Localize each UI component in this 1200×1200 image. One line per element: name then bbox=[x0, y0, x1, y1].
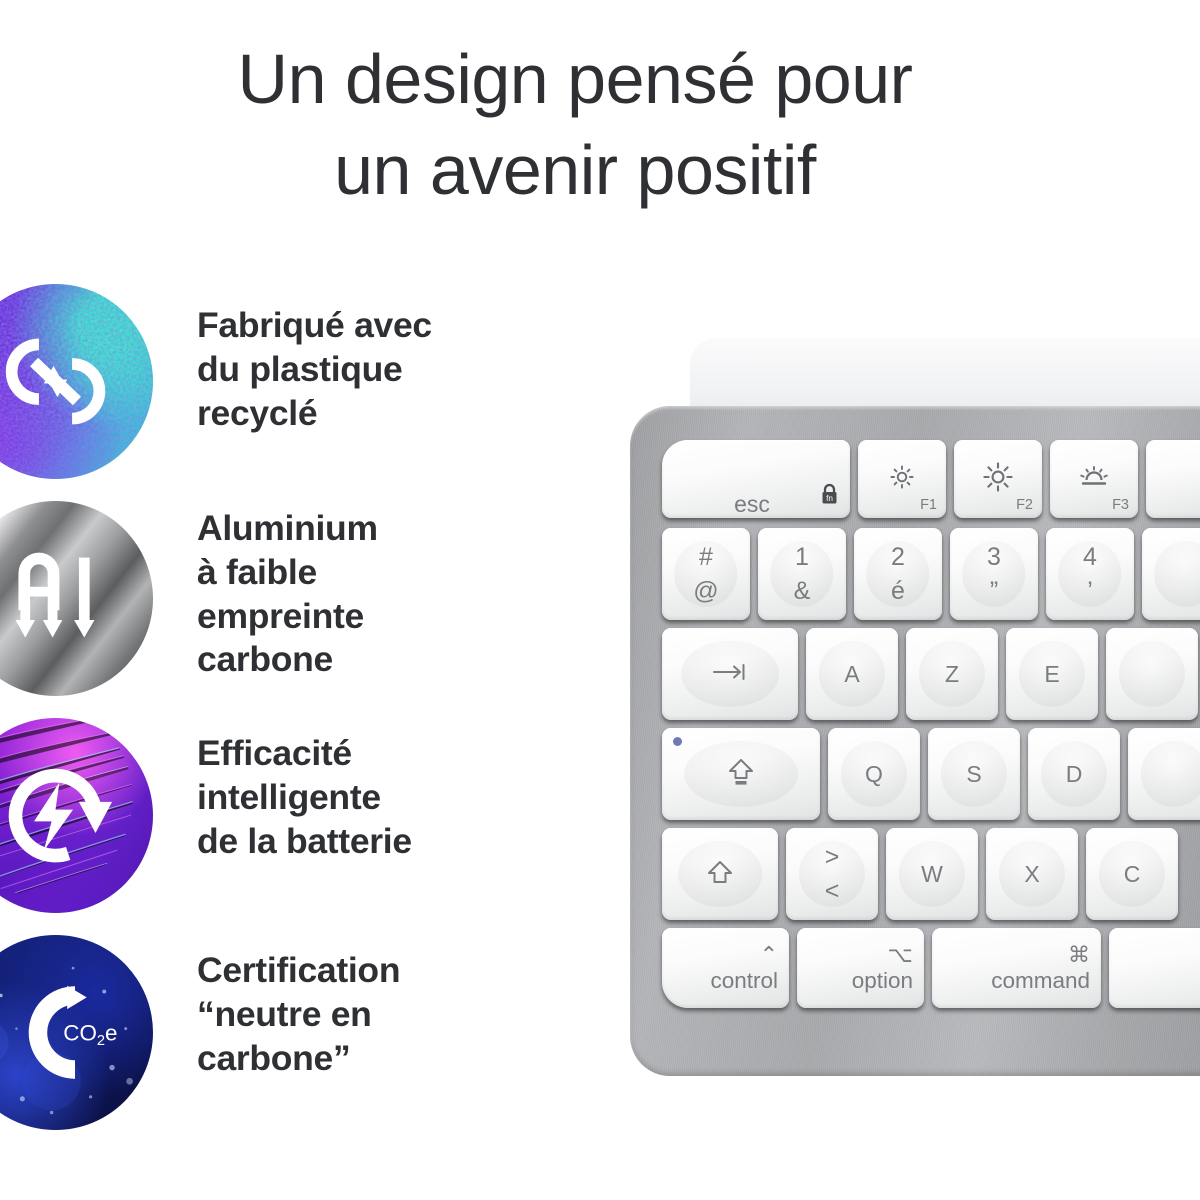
keyboard-keys: esc fn bbox=[630, 406, 1200, 1076]
key-esc[interactable]: esc fn bbox=[662, 440, 850, 518]
key-f3[interactable]: F3 bbox=[1050, 440, 1138, 518]
key-label: 3 bbox=[987, 545, 1001, 570]
key-x[interactable]: X bbox=[986, 828, 1078, 920]
key-label: X bbox=[1024, 863, 1039, 886]
keyboard-row-modifier: ⌃ control ⌥ option ⌘ command bbox=[662, 928, 1200, 1008]
keyboard-row-number: # @ 1 & 2 é bbox=[662, 528, 1200, 620]
caret-up-icon: ⌃ bbox=[760, 944, 778, 966]
key-label: Z bbox=[945, 663, 959, 686]
key-fkey-label: F2 bbox=[1016, 497, 1033, 513]
key-label: option bbox=[852, 970, 913, 993]
key-option[interactable]: ⌥ option bbox=[797, 928, 924, 1008]
command-icon: ⌘ bbox=[1068, 944, 1090, 966]
key-fkey-label: F1 bbox=[920, 497, 937, 513]
key-label: W bbox=[921, 863, 943, 886]
key-hash-at[interactable]: # @ bbox=[662, 528, 750, 620]
key-sublabel: ’ bbox=[1087, 579, 1093, 604]
key-label: 2 bbox=[891, 545, 905, 570]
feature-label: Efficacité intelligente de la batterie bbox=[197, 732, 412, 863]
key-sublabel: @ bbox=[693, 579, 718, 604]
key-caps-lock[interactable] bbox=[662, 728, 820, 820]
shift-arrow-icon bbox=[705, 858, 735, 890]
key-f1[interactable]: F1 bbox=[858, 440, 946, 518]
key-z[interactable]: Z bbox=[906, 628, 998, 720]
recycle-loop-icon bbox=[0, 284, 153, 479]
key-label: C bbox=[1124, 863, 1141, 886]
key-f[interactable] bbox=[1128, 728, 1200, 820]
key-f2[interactable]: F2 bbox=[954, 440, 1042, 518]
key-five[interactable] bbox=[1142, 528, 1200, 620]
key-label: S bbox=[966, 763, 981, 786]
feature-label: Fabriqué avec du plastique recyclé bbox=[197, 304, 432, 435]
caps-lock-arrow-icon bbox=[726, 756, 756, 792]
brightness-up-icon bbox=[981, 460, 1015, 498]
feature-smart-battery-efficiency: Efficacité intelligente de la batterie bbox=[0, 718, 558, 935]
key-less-more[interactable]: > < bbox=[786, 828, 878, 920]
key-label: E bbox=[1044, 663, 1059, 686]
key-e[interactable]: E bbox=[1006, 628, 1098, 720]
key-tab[interactable] bbox=[662, 628, 798, 720]
key-r[interactable] bbox=[1106, 628, 1198, 720]
key-label: D bbox=[1066, 763, 1083, 786]
tab-arrow-icon bbox=[710, 662, 750, 686]
feature-label: Aluminium à faible empreinte carbone bbox=[197, 507, 378, 682]
key-four[interactable]: 4 ’ bbox=[1046, 528, 1134, 620]
fn-lock-icon: fn bbox=[819, 483, 840, 511]
keyboard-row-shift: > < W X C bbox=[662, 828, 1178, 920]
keyboard-product-image: esc fn bbox=[620, 330, 1200, 1090]
key-label: A bbox=[844, 663, 859, 686]
key-c[interactable]: C bbox=[1086, 828, 1178, 920]
key-sublabel: & bbox=[794, 579, 811, 604]
brightness-down-icon bbox=[887, 462, 917, 496]
keyboard-backlight-icon bbox=[1077, 464, 1111, 494]
key-fkey-label: F3 bbox=[1112, 497, 1129, 513]
key-one[interactable]: 1 & bbox=[758, 528, 846, 620]
key-s[interactable]: S bbox=[928, 728, 1020, 820]
key-label: esc bbox=[734, 491, 770, 518]
aluminium-down-arrows-icon bbox=[0, 501, 153, 696]
feature-recycled-plastic: Fabriqué avec du plastique recyclé bbox=[0, 284, 558, 501]
option-icon: ⌥ bbox=[888, 944, 913, 966]
key-a[interactable]: A bbox=[806, 628, 898, 720]
key-label: 1 bbox=[795, 545, 809, 570]
key-label: 4 bbox=[1083, 545, 1097, 570]
battery-bolt-loop-icon bbox=[0, 718, 153, 913]
key-q[interactable]: Q bbox=[828, 728, 920, 820]
feature-carbon-neutral-certified: CO2e Certification “neutre en carbone” bbox=[0, 935, 558, 1152]
key-d[interactable]: D bbox=[1028, 728, 1120, 820]
key-command[interactable]: ⌘ command bbox=[932, 928, 1101, 1008]
key-label: # bbox=[699, 545, 713, 570]
svg-text:CO2e: CO2e bbox=[63, 1020, 117, 1049]
key-w[interactable]: W bbox=[886, 828, 978, 920]
keyboard-row-home: Q S D bbox=[662, 728, 1200, 820]
key-sublabel: ” bbox=[990, 579, 998, 604]
key-shift[interactable] bbox=[662, 828, 778, 920]
feature-low-carbon-aluminium: Aluminium à faible empreinte carbone bbox=[0, 501, 558, 718]
key-label: Q bbox=[865, 763, 883, 786]
key-two[interactable]: 2 é bbox=[854, 528, 942, 620]
page-title: Un design pensé pour un avenir positif bbox=[0, 34, 1150, 216]
key-label: > bbox=[825, 845, 840, 870]
promo-panel: Un design pensé pour un avenir positif bbox=[0, 0, 1200, 1200]
sustainability-feature-list: Fabriqué avec du plastique recyclé bbox=[0, 284, 558, 1152]
key-control[interactable]: ⌃ control bbox=[662, 928, 789, 1008]
key-label: control bbox=[710, 970, 778, 993]
key-f4[interactable] bbox=[1146, 440, 1200, 518]
key-sublabel: é bbox=[891, 579, 905, 604]
feature-label: Certification “neutre en carbone” bbox=[197, 949, 400, 1080]
carbon-c-icon: CO2e bbox=[0, 935, 153, 1130]
key-space[interactable] bbox=[1109, 928, 1200, 1008]
key-three[interactable]: 3 ” bbox=[950, 528, 1038, 620]
key-label: command bbox=[991, 970, 1090, 993]
keyboard-row-tab: A Z E bbox=[662, 628, 1198, 720]
caps-lock-led bbox=[673, 737, 682, 746]
svg-text:fn: fn bbox=[826, 494, 833, 503]
keyboard-row-function: esc fn bbox=[662, 440, 1200, 518]
key-sublabel: < bbox=[825, 879, 840, 904]
